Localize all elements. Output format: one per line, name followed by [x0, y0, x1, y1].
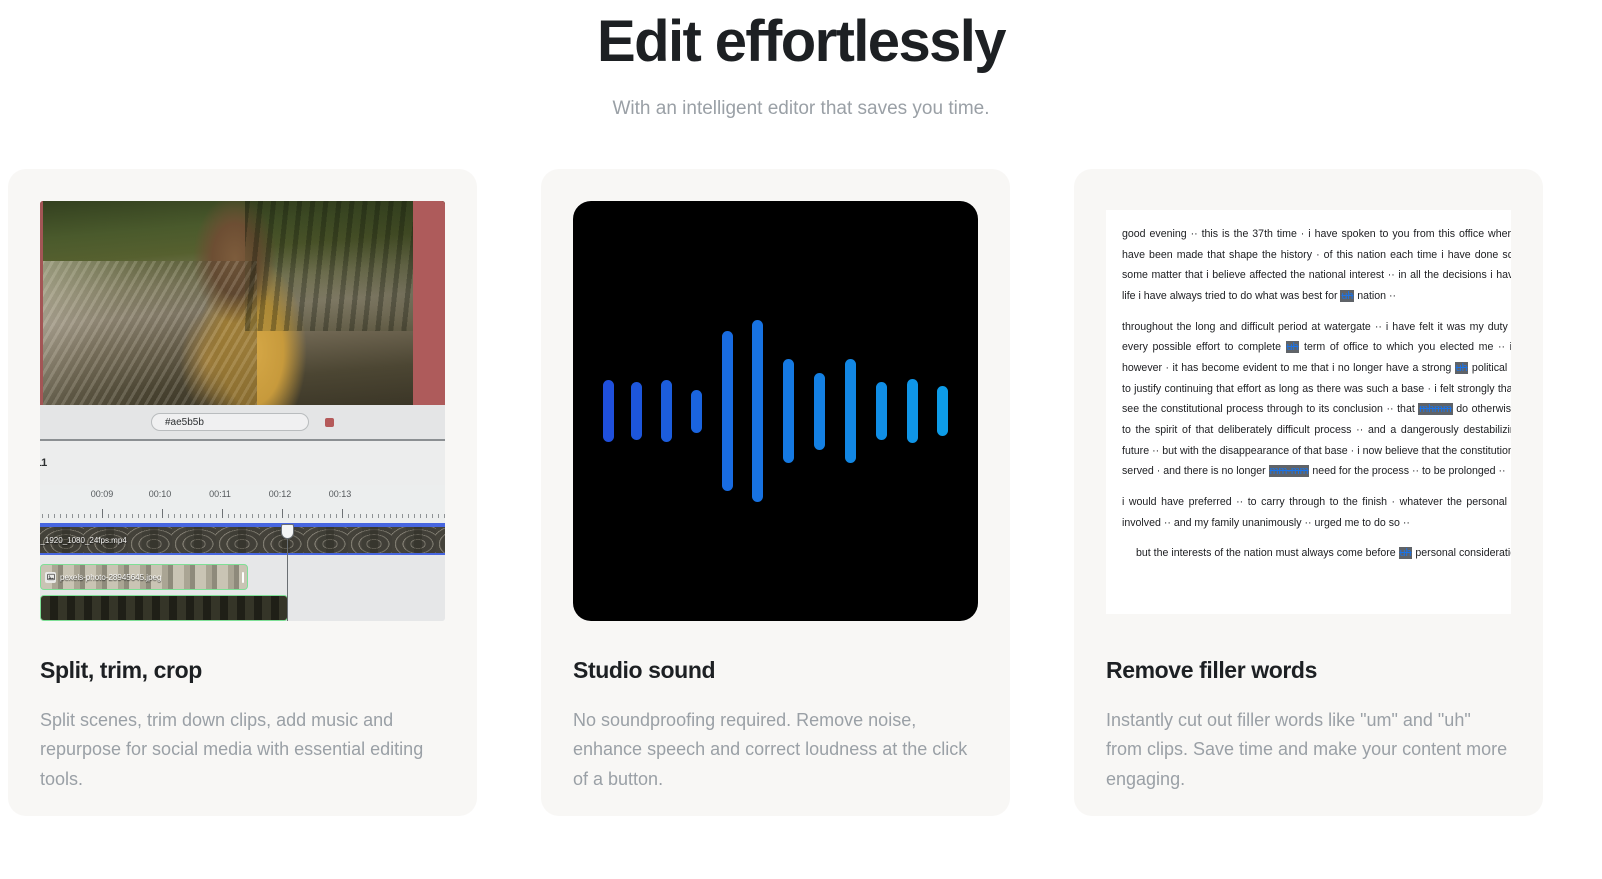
feature-card-remove-filler-words[interactable]: good evening ·· this is the 37th time · …: [1074, 169, 1543, 816]
ruler-tick: [156, 514, 157, 518]
ruler-tick: [138, 514, 139, 518]
video-editor: #ae5b5b :11 00:0900:1000:1100:1200:13: [40, 201, 445, 621]
ruler-tick: [408, 514, 409, 518]
ruler-tick: [222, 509, 223, 518]
transcript-document-wrapper: good evening ·· this is the 37th time · …: [1106, 201, 1511, 621]
playhead-handle[interactable]: [281, 524, 294, 539]
audio-waveform-preview: [573, 201, 978, 621]
ruler-tick: [84, 514, 85, 518]
ruler-tick: [216, 514, 217, 518]
clip-trim-handle[interactable]: [242, 572, 244, 583]
ruler-tick: [114, 514, 115, 518]
ruler-tick: [192, 514, 193, 518]
transcript-paragraph[interactable]: throughout the long and difficult period…: [1122, 317, 1511, 482]
ruler-tick: [312, 514, 313, 518]
preview-matte-left: [40, 201, 43, 405]
card-title: Split, trim, crop: [40, 657, 445, 684]
overlay-filmstrip-thumbnails: [41, 596, 287, 620]
filler-word[interactable]: mm-mm: [1269, 465, 1310, 477]
waveform-bar: [814, 373, 825, 450]
ruler-tick: [444, 514, 445, 518]
ruler-ticks: [40, 508, 445, 518]
timeline-tracks[interactable]: d_1920_1080_24fps.mp4 pexels-photo-28945…: [40, 525, 445, 621]
ruler-tick: [366, 514, 367, 518]
ruler-tick: [132, 514, 133, 518]
ruler-tick: [54, 514, 55, 518]
ruler-tick: [432, 514, 433, 518]
video-clip-label: d_1920_1080_24fps.mp4: [40, 536, 127, 545]
ruler-tick: [348, 514, 349, 518]
ruler-tick: [330, 514, 331, 518]
feature-section: Edit effortlessly With an intelligent ed…: [0, 0, 1602, 879]
preview-matte-right: [413, 201, 445, 405]
ruler-tick: [246, 514, 247, 518]
preview-photo: [42, 201, 445, 405]
waveform-bar: [907, 379, 918, 443]
transcript-paragraph[interactable]: good evening ·· this is the 37th time · …: [1122, 224, 1511, 307]
playhead[interactable]: [287, 533, 288, 621]
filler-word[interactable]: mhmm: [1418, 403, 1452, 415]
card-title: Studio sound: [573, 657, 978, 684]
filler-word[interactable]: uh: [1399, 547, 1413, 559]
waveform-bar: [691, 390, 702, 433]
timecode-label: :11: [40, 457, 47, 469]
ruler-label: 00:13: [329, 489, 352, 499]
ruler-tick: [162, 509, 163, 518]
ruler-label: 00:10: [149, 489, 172, 499]
ruler-tick: [390, 514, 391, 518]
ruler-tick: [300, 514, 301, 518]
filler-word[interactable]: uh: [1340, 290, 1354, 302]
timeline-clip-overlay[interactable]: [40, 595, 288, 621]
ruler-tick: [180, 514, 181, 518]
ruler-tick: [108, 514, 109, 518]
transcript-preview: good evening ·· this is the 37th time · …: [1106, 201, 1511, 621]
ruler-tick: [72, 514, 73, 518]
ruler-tick: [198, 514, 199, 518]
ruler-tick: [234, 514, 235, 518]
transcript-document[interactable]: good evening ·· this is the 37th time · …: [1106, 210, 1511, 614]
card-description: Instantly cut out filler words like "um"…: [1106, 706, 1511, 794]
ruler-label: 00:12: [269, 489, 292, 499]
ruler-tick: [90, 514, 91, 518]
waveform-bar: [603, 380, 614, 442]
ruler-label: 00:09: [91, 489, 114, 499]
filler-word[interactable]: uh: [1286, 341, 1300, 353]
transcript-paragraph[interactable]: but the interests of the nation must alw…: [1122, 543, 1511, 564]
ruler-tick: [210, 514, 211, 518]
ruler-tick: [378, 514, 379, 518]
ruler-tick: [402, 514, 403, 518]
ruler-tick: [228, 514, 229, 518]
ruler-tick: [102, 509, 103, 518]
feature-card-list: #ae5b5b :11 00:0900:1000:1100:1200:13: [8, 169, 1602, 816]
waveform-bar: [631, 382, 642, 440]
ruler-tick: [150, 514, 151, 518]
ruler-tick: [252, 514, 253, 518]
card-title: Remove filler words: [1106, 657, 1511, 684]
hex-color-input[interactable]: #ae5b5b: [151, 413, 309, 431]
ruler-tick: [426, 514, 427, 518]
waveform-bar: [661, 380, 672, 442]
image-icon: [45, 572, 56, 583]
filler-word[interactable]: uh: [1455, 362, 1469, 374]
color-swatch[interactable]: [325, 418, 334, 427]
card-description: No soundproofing required. Remove noise,…: [573, 706, 978, 794]
ruler-tick: [318, 514, 319, 518]
timeline-clip-video[interactable]: d_1920_1080_24fps.mp4: [40, 525, 445, 555]
ruler-tick: [354, 514, 355, 518]
ruler-tick: [78, 514, 79, 518]
ruler-tick: [120, 514, 121, 518]
ruler-tick-labels: 00:0900:1000:1100:1200:13: [40, 489, 445, 503]
hero-header: Edit effortlessly With an intelligent ed…: [0, 0, 1602, 120]
feature-card-studio-sound[interactable]: Studio sound No soundproofing required. …: [541, 169, 1010, 816]
ruler-tick: [276, 514, 277, 518]
video-preview-canvas[interactable]: [40, 201, 445, 405]
ruler-tick: [168, 514, 169, 518]
ruler-tick: [144, 514, 145, 518]
ruler-tick: [372, 514, 373, 518]
timeline-ruler[interactable]: 00:0900:1000:1100:1200:13: [40, 485, 445, 525]
ruler-label: 00:11: [209, 489, 231, 499]
ruler-tick: [342, 509, 343, 518]
ruler-tick: [42, 514, 43, 518]
ruler-tick: [396, 514, 397, 518]
ruler-tick: [240, 514, 241, 518]
ruler-tick: [174, 514, 175, 518]
ruler-tick: [282, 509, 283, 518]
ruler-tick: [414, 514, 415, 518]
feature-card-split-trim-crop[interactable]: #ae5b5b :11 00:0900:1000:1100:1200:13: [8, 169, 477, 816]
waveform-bar: [752, 320, 763, 502]
timecode-strip: :11: [40, 439, 445, 485]
ruler-tick: [66, 514, 67, 518]
transcript-paragraph[interactable]: i would have preferred ·· to carry throu…: [1122, 492, 1511, 533]
ruler-tick: [270, 514, 271, 518]
timeline-clip-image[interactable]: pexels-photo-28945645.jpeg: [40, 564, 248, 590]
ruler-tick: [204, 514, 205, 518]
ruler-tick: [420, 514, 421, 518]
ruler-tick: [438, 514, 439, 518]
background-color-toolbar: #ae5b5b: [40, 405, 445, 439]
waveform-bar: [937, 386, 948, 436]
ruler-tick: [258, 514, 259, 518]
ruler-tick: [96, 514, 97, 518]
ruler-tick: [294, 514, 295, 518]
waveform-bar: [876, 382, 887, 440]
ruler-tick: [264, 514, 265, 518]
waveform-bar: [783, 359, 794, 463]
waveform-bar: [845, 359, 856, 463]
ruler-tick: [336, 514, 337, 518]
ruler-tick: [288, 514, 289, 518]
image-clip-label: pexels-photo-28945645.jpeg: [60, 573, 161, 582]
ruler-tick: [384, 514, 385, 518]
ruler-tick: [126, 514, 127, 518]
audio-waveform: [603, 201, 948, 621]
page-title: Edit effortlessly: [0, 8, 1602, 76]
card-description: Split scenes, trim down clips, add music…: [40, 706, 445, 794]
ruler-tick: [186, 514, 187, 518]
waveform-canvas[interactable]: [573, 201, 978, 621]
ruler-tick: [60, 514, 61, 518]
ruler-tick: [324, 514, 325, 518]
video-editor-preview: #ae5b5b :11 00:0900:1000:1100:1200:13: [40, 201, 445, 621]
ruler-tick: [360, 514, 361, 518]
ruler-tick: [48, 514, 49, 518]
page-subtitle: With an intelligent editor that saves yo…: [0, 98, 1602, 120]
waveform-bar: [722, 331, 733, 491]
ruler-tick: [306, 514, 307, 518]
